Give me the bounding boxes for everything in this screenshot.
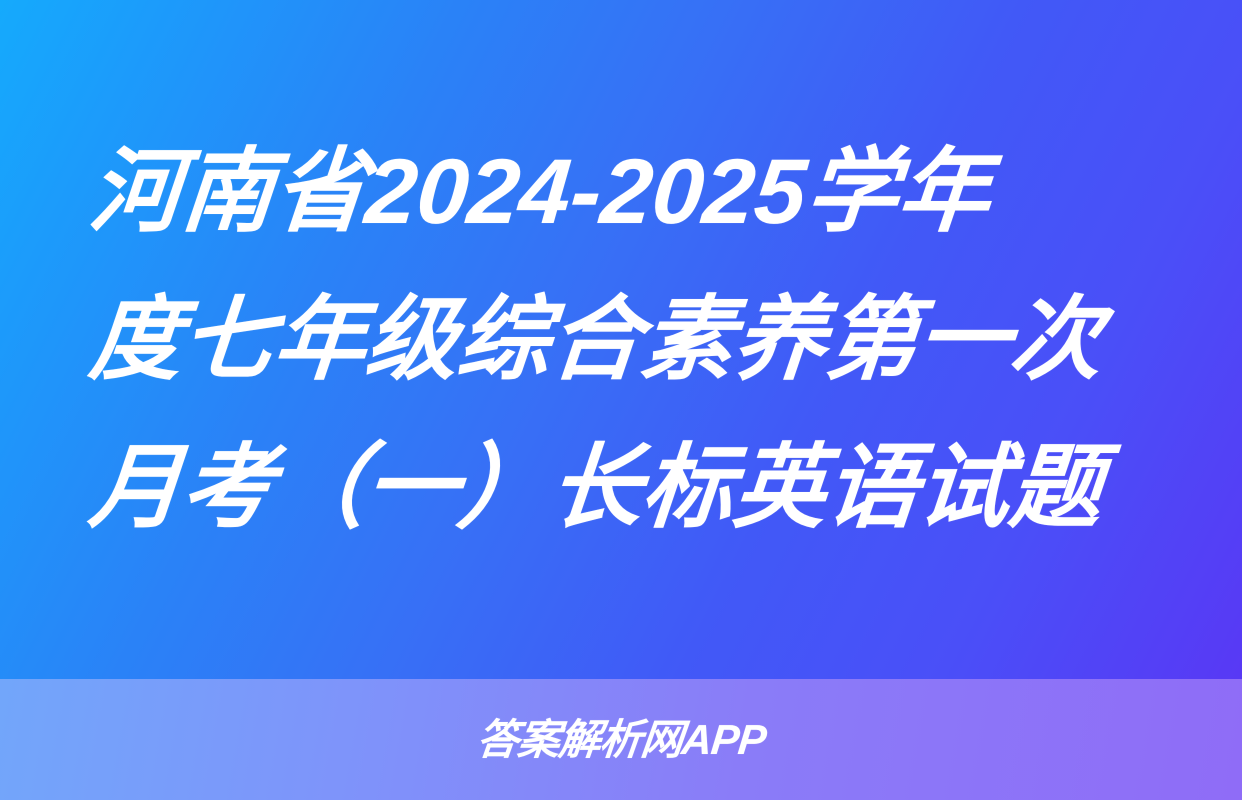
watermark-band: 答案解析网APP (0, 679, 1242, 800)
title-line-1: 河南省2024-2025学年 (84, 118, 997, 266)
watermark-brand-text: 答案解析网APP (475, 719, 768, 761)
title-line-3: 月考（一）长标英语试题 (84, 414, 1109, 562)
title-line-2: 度七年级综合素养第一次 (84, 266, 1109, 414)
exam-title-block: 河南省2024-2025学年 度七年级综合素养第一次 月考（一）长标英语试题 (0, 0, 1242, 679)
exam-title-banner: 河南省2024-2025学年 度七年级综合素养第一次 月考（一）长标英语试题 答… (0, 0, 1242, 800)
